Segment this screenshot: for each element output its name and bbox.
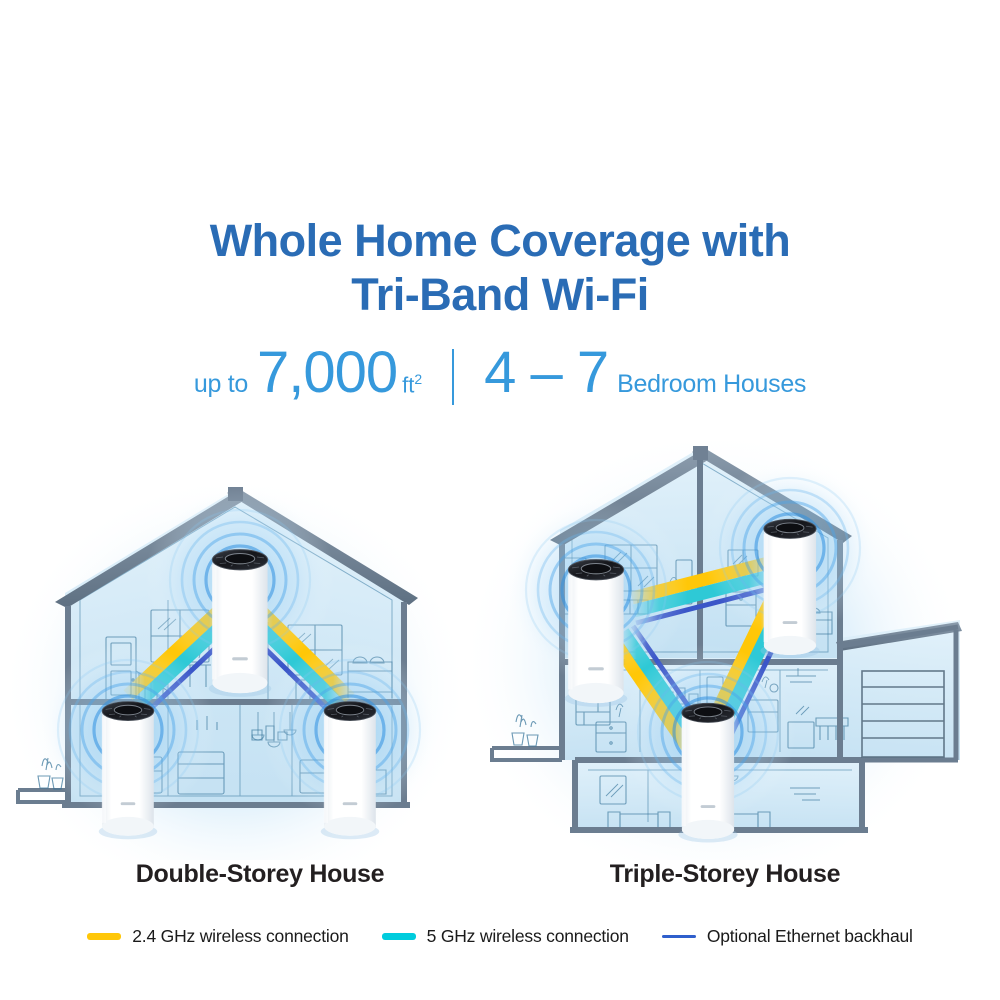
metric-bedrooms: 4 – 7 Bedroom Houses: [484, 344, 806, 402]
legend-label-5ghz: 5 GHz wireless connection: [427, 926, 629, 947]
legend-swatch-ethernet: [662, 935, 696, 938]
coverage-unit: ft2: [402, 371, 422, 398]
legend-item-ethernet: Optional Ethernet backhaul: [662, 926, 913, 947]
legend: 2.4 GHz wireless connection 5 GHz wirele…: [0, 926, 1000, 947]
legend-label-ethernet: Optional Ethernet backhaul: [707, 926, 913, 947]
bedrooms-value: 4 – 7: [484, 344, 608, 402]
coverage-value: 7,000: [257, 344, 397, 402]
page-title: Whole Home Coverage with Tri-Band Wi-Fi: [0, 214, 1000, 322]
coverage-unit-superscript: 2: [414, 371, 422, 387]
legend-swatch-24ghz: [87, 933, 121, 940]
caption-triple-storey: Triple-Storey House: [525, 860, 925, 889]
page-title-line-1: Whole Home Coverage with: [0, 214, 1000, 268]
coverage-illustration: [0, 430, 1000, 860]
bedrooms-label: Bedroom Houses: [617, 370, 806, 399]
caption-double-storey: Double-Storey House: [60, 860, 460, 889]
coverage-prefix: up to: [194, 370, 248, 399]
metric-coverage-area: up to 7,000 ft2: [194, 344, 422, 402]
metrics-row: up to 7,000 ft2 4 – 7 Bedroom Houses: [0, 344, 1000, 402]
legend-swatch-5ghz: [382, 933, 416, 940]
legend-item-5ghz: 5 GHz wireless connection: [382, 926, 629, 947]
coverage-unit-text: ft: [402, 372, 414, 397]
metrics-divider: [452, 349, 454, 405]
legend-item-24ghz: 2.4 GHz wireless connection: [87, 926, 348, 947]
legend-label-24ghz: 2.4 GHz wireless connection: [132, 926, 348, 947]
page-title-line-2: Tri-Band Wi-Fi: [0, 268, 1000, 322]
